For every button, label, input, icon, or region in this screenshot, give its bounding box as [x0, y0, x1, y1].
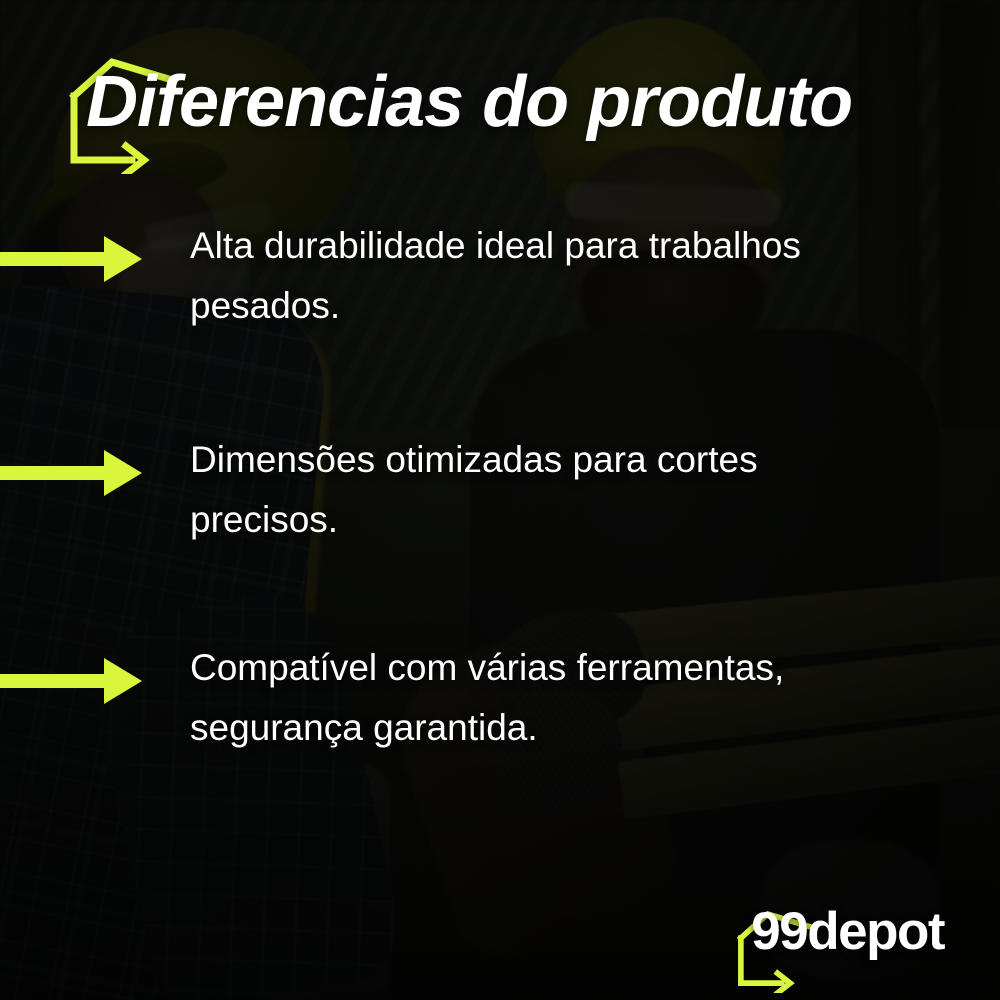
page-title: Diferencias do produto: [86, 66, 852, 138]
list-item-label: Alta durabilidade ideal para trabalhos p…: [142, 216, 810, 336]
arrow-right-icon: [0, 450, 142, 496]
list-item-label: Compatível com várias ferramentas, segur…: [142, 638, 810, 758]
arrow-right-icon: [0, 658, 142, 704]
list-item: Dimensões otimizadas para cortes preciso…: [0, 450, 1000, 570]
list-item: Alta durabilidade ideal para trabalhos p…: [0, 236, 1000, 356]
brand-logo-text: 99depot: [709, 901, 944, 962]
promo-poster: Diferencias do produto Alta durabilidade…: [0, 0, 1000, 1000]
feature-list: Alta durabilidade ideal para trabalhos p…: [0, 236, 1000, 784]
list-item-label: Dimensões otimizadas para cortes preciso…: [142, 430, 810, 550]
poster-content: Diferencias do produto Alta durabilidade…: [0, 0, 1000, 1000]
brand-logo: 99depot: [709, 901, 944, 962]
list-item: Compatível com várias ferramentas, segur…: [0, 658, 1000, 778]
arrow-right-icon: [0, 236, 142, 282]
